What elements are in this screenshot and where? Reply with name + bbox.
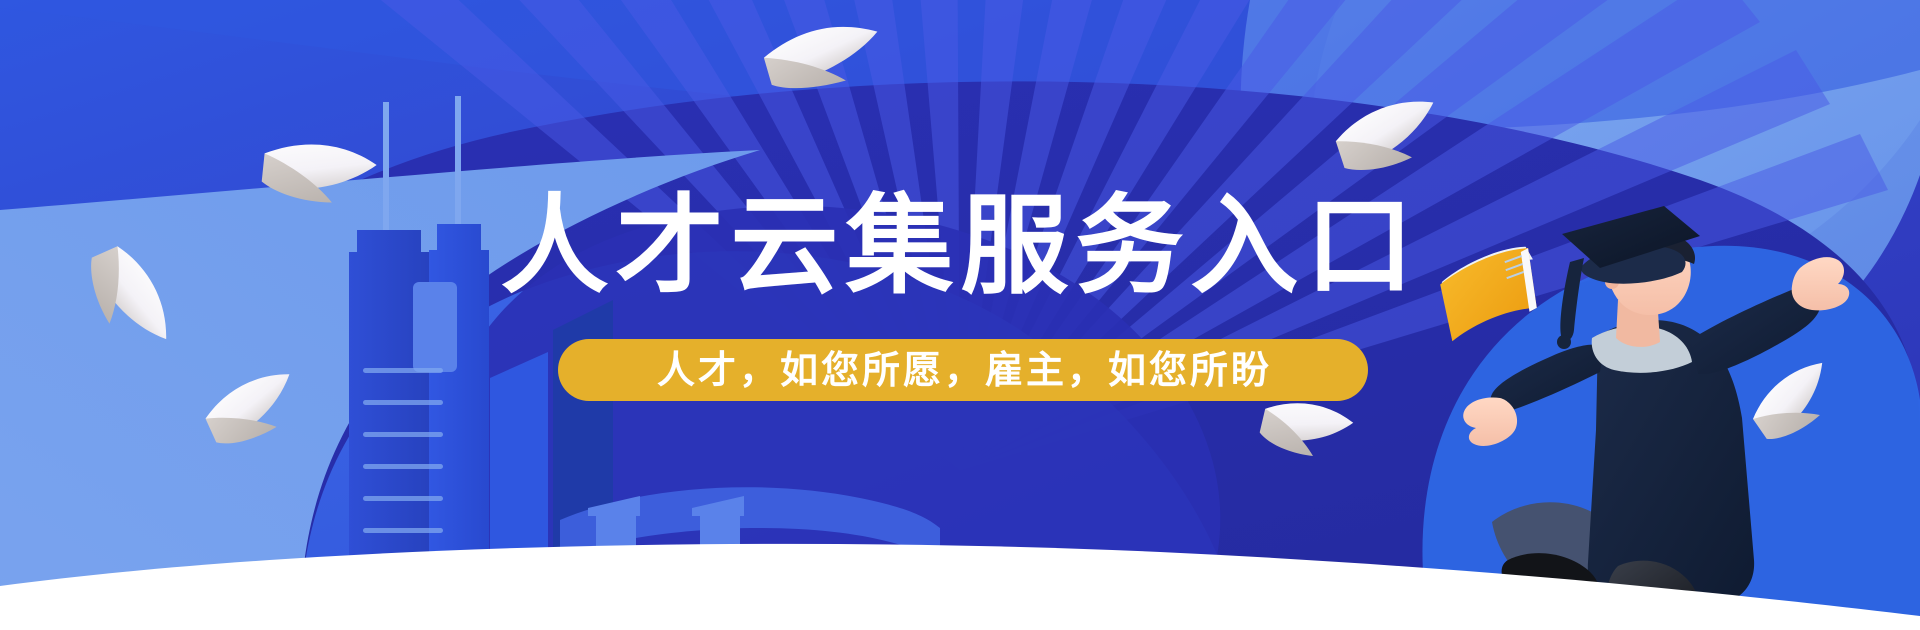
subtitle-pill[interactable]: 人才，如您所愿，雇主，如您所盼 [558, 339, 1368, 401]
subtitle-pill-text: 人才，如您所愿，雇主，如您所盼 [654, 350, 1272, 390]
promo-banner: 人才云集服务入口 人才，如您所愿，雇主，如您所盼 [0, 0, 1920, 630]
banner-artwork [0, 0, 1920, 630]
tower-window-block [413, 282, 457, 372]
tower-antenna-left [383, 102, 389, 230]
tower-antenna-right [455, 96, 461, 230]
